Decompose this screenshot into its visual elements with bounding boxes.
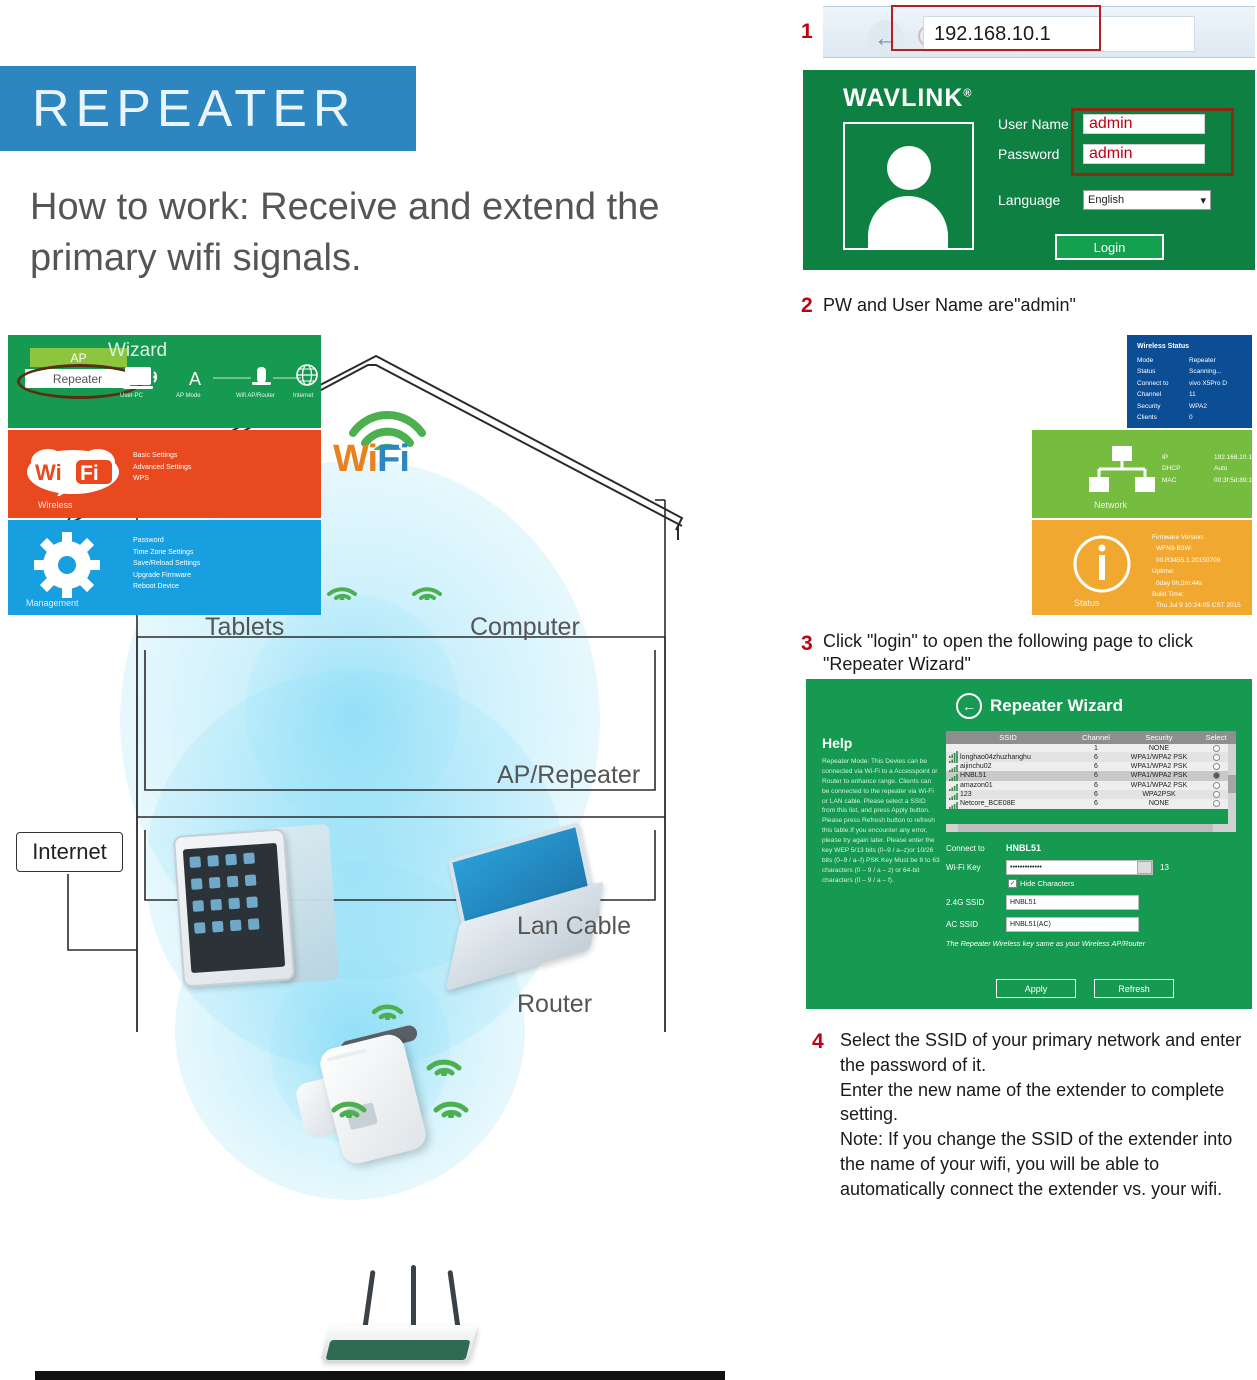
avatar — [843, 122, 974, 250]
signal-bars-icon — [949, 802, 958, 811]
ssid-security: WPA1/WPA2 PSK — [1122, 772, 1196, 779]
ssid-channel: 6 — [1070, 782, 1122, 789]
gear-icon — [34, 532, 100, 598]
network-key-2: MAC — [1162, 475, 1214, 486]
network-tile-label: Network — [1094, 500, 1127, 510]
ap-mode-icon: A — [186, 368, 208, 390]
signal-icon-middle — [370, 988, 406, 1020]
repeater-wizard-page: ← Repeater Wizard Help Repeater Mode: Th… — [803, 676, 1255, 1012]
wireless-menu-items[interactable]: Basic SettingsAdvanced SettingsWPS — [133, 450, 191, 485]
node-label-wifi-ap-router: Wifi AP/Router — [236, 393, 275, 399]
signal-icon-left — [325, 570, 359, 600]
ssid-security: WPA1/WPA2 PSK — [1122, 782, 1196, 789]
wizard-title: Wizard — [108, 340, 167, 362]
wizard-page-title: Repeater Wizard — [990, 696, 1123, 716]
ssid-channel: 6 — [1070, 772, 1122, 779]
wifi-wordmark: WiFi — [333, 438, 409, 481]
ground-line — [35, 1371, 725, 1380]
node-label-ap-mode: AP Mode — [176, 393, 201, 399]
refresh-button[interactable]: Refresh — [1094, 979, 1174, 998]
ssid-name: longhao04zhuzhanghu — [946, 754, 1070, 761]
col-select: Select — [1196, 733, 1236, 742]
wifi-letter-f: F — [377, 438, 399, 480]
label-lan-cable: Lan Cable — [517, 912, 631, 941]
wifi-letter-i: i — [368, 438, 378, 480]
step-3-number: 3 — [801, 632, 813, 656]
step-4-number: 4 — [812, 1030, 824, 1054]
hide-characters-row[interactable]: ✓ Hide Characters — [1008, 879, 1246, 888]
back-arrow-icon[interactable]: ← — [956, 693, 982, 719]
avatar-head-icon — [887, 146, 931, 190]
wifi-cloud-icon: Wi Fi — [26, 446, 121, 496]
wireless-status-key-0: Mode — [1137, 355, 1189, 366]
language-value: English — [1088, 194, 1124, 206]
network-info-rows: IP192.168.10.1DHCPAutoMAC00:3f:5d:89:18:… — [1162, 452, 1257, 486]
tile-wizard[interactable]: AP Repeater Wizard User-PC A AP Mode Wif… — [8, 335, 321, 428]
wireless-status-rows: ModeRepeaterStatusScanning...Connect tov… — [1137, 355, 1227, 423]
login-button[interactable]: Login — [1055, 234, 1164, 260]
language-select[interactable]: English ▾ — [1083, 190, 1211, 210]
url-highlight-box — [891, 5, 1101, 51]
wizard-button-row: Apply Refresh — [996, 979, 1174, 998]
ssid-row[interactable]: HNBL516WPA1/WPA2 PSK — [946, 771, 1236, 780]
wireless-status-key-4: Security — [1137, 401, 1189, 412]
ssid-table-body[interactable]: 1NONElonghao04zhuzhanghu6WPA1/WPA2 PSKai… — [946, 744, 1236, 809]
ssid-24g-label: 2.4G SSID — [946, 898, 1006, 907]
ssid-security: WPA1/WPA2 PSK — [1122, 763, 1196, 770]
status-value-1: 0day 0h:2m:44s — [1152, 578, 1247, 589]
wireless-status-value-0: Repeater — [1189, 355, 1227, 366]
wireless-status-value-4: WPA2 — [1189, 401, 1227, 412]
wireless-menu-item-1[interactable]: Advanced Settings — [133, 462, 191, 474]
wireless-status-value-2: vivo X5Pro D — [1189, 378, 1227, 389]
ssid-channel: 6 — [1070, 754, 1122, 761]
management-tile-label: Management — [26, 598, 79, 608]
svg-text:A: A — [189, 369, 201, 389]
step-4-text: Select the SSID of your primary network … — [840, 1028, 1250, 1202]
ssid-name: 123 — [946, 791, 1070, 798]
tile-network[interactable]: IP192.168.10.1DHCPAutoMAC00:3f:5d:89:18:… — [1032, 430, 1252, 518]
router-antenna-mid — [411, 1265, 416, 1331]
label-router: Router — [517, 990, 592, 1019]
ssid-table-header: SSID Channel Security Select — [946, 731, 1236, 744]
status-value-2: Thu Jul 9 10:24:05 CST 2015 — [1152, 600, 1247, 611]
status-key-1: Uptime: — [1152, 566, 1247, 577]
label-computer: Computer — [470, 613, 580, 642]
hide-characters-label: Hide Characters — [1020, 879, 1074, 888]
ssid-scrollbar-thumb[interactable] — [1228, 775, 1236, 793]
tablet-screen — [183, 843, 285, 973]
ssid-row[interactable]: amazon016WPA1/WPA2 PSK — [946, 781, 1236, 790]
wireless-menu-item-0[interactable]: Basic Settings — [133, 450, 191, 462]
router-front-panel — [326, 1340, 471, 1360]
ssid-name: Netcore_BCE08E — [946, 800, 1070, 807]
router-signal-right — [432, 1082, 472, 1118]
status-value-0: WFN3-B3W-00.R3455.1.20150709 — [1152, 543, 1247, 566]
wizard-page-header: ← Repeater Wizard — [956, 693, 1123, 719]
tile-wireless-status[interactable]: Wireless Status ModeRepeaterStatusScanni… — [1127, 335, 1252, 428]
ssid-ac-label: AC SSID — [946, 920, 1006, 929]
network-value-2: 00:3f:5d:89:18:44 — [1214, 475, 1257, 486]
label-tablets: Tablets — [205, 613, 284, 642]
wavlink-logo: WAVLINK® — [843, 84, 973, 113]
ssid-ac-row: AC SSID HNBL51(AC) — [946, 917, 1246, 932]
wireless-tile-label: Wireless — [38, 500, 73, 510]
wifi-router-icon — [251, 363, 273, 389]
ssid-24g-row: 2.4G SSID HNBL51 — [946, 895, 1246, 910]
management-menu-item-0[interactable]: Password — [133, 535, 200, 547]
repeater-signal-icon — [425, 1040, 465, 1076]
network-tree-icon — [1087, 444, 1157, 496]
wifi-key-input[interactable]: ••••••••••••• — [1006, 860, 1153, 875]
info-icon — [1072, 534, 1132, 594]
ssid-row[interactable]: longhao04zhuzhanghu6WPA1/WPA2 PSK — [946, 752, 1236, 761]
help-title: Help — [822, 735, 852, 751]
ssid-horizontal-thumb[interactable] — [958, 824, 1213, 832]
ssid-channel: 6 — [1070, 791, 1122, 798]
network-key-1: DHCP — [1162, 463, 1214, 474]
wifi-key-label: Wi-Fi Key — [946, 863, 1006, 872]
network-value-0: 192.168.10.1 — [1214, 452, 1257, 463]
wifi-letter-w: W — [333, 438, 368, 480]
internet-label-box: Internet — [16, 832, 123, 872]
status-key-2: Build Time: — [1152, 589, 1247, 600]
tablet-device — [173, 828, 295, 987]
network-value-1: Auto — [1214, 463, 1257, 474]
wireless-menu-item-2[interactable]: WPS — [133, 473, 191, 485]
help-text: Repeater Mode: This Devies can be connec… — [822, 757, 940, 886]
wireless-status-key-5: Clients — [1137, 412, 1189, 423]
step-3-text: Click "login" to open the following page… — [823, 630, 1248, 677]
user-pc-icon — [123, 365, 163, 395]
internet-globe-icon — [296, 363, 320, 387]
step-2-number: 2 — [801, 294, 813, 318]
node-label-internet: Internet — [293, 393, 313, 399]
wavlink-logo-reg: ® — [963, 88, 972, 100]
wavlink-logo-text: WAVLINK — [843, 84, 963, 112]
ssid-row[interactable]: 1NONE — [946, 744, 1236, 752]
how-to-work-text: How to work: Receive and extend the prim… — [30, 182, 770, 285]
tile-status[interactable]: Firmware Version:WFN3-B3W-00.R3455.1.201… — [1032, 520, 1252, 615]
router-signal-left — [330, 1082, 370, 1118]
ssid-channel: 1 — [1070, 745, 1122, 752]
wireless-status-key-1: Status — [1137, 366, 1189, 377]
ssid-security: NONE — [1122, 745, 1196, 752]
language-label: Language — [998, 192, 1083, 208]
wireless-status-value-1: Scanning... — [1189, 366, 1227, 377]
show-password-icon[interactable] — [1137, 861, 1152, 874]
ssid-name: HNBL51 — [946, 772, 1070, 779]
ssid-ac-input[interactable]: HNBL51(AC) — [1006, 917, 1139, 932]
ssid-name: amazon01 — [946, 782, 1070, 789]
management-menu-item-3[interactable]: Upgrade Firmware — [133, 570, 200, 582]
col-ssid: SSID — [946, 733, 1070, 742]
status-info-rows: Firmware Version:WFN3-B3W-00.R3455.1.201… — [1152, 532, 1247, 612]
label-ap-repeater: AP/Repeater — [497, 761, 640, 790]
wireless-status-value-3: 11 — [1189, 389, 1227, 400]
wireless-status-value-5: 0 — [1189, 412, 1227, 423]
wizard-form: Connect to HNBL51 Wi-Fi Key ••••••••••••… — [946, 843, 1246, 948]
status-key-0: Firmware Version: — [1152, 532, 1247, 543]
ssid-24g-input[interactable]: HNBL51 — [1006, 895, 1139, 910]
language-row: Language English ▾ — [998, 190, 1211, 210]
management-menu-item-4[interactable]: Reboot Device — [133, 581, 200, 593]
connect-to-label: Connect to — [946, 844, 1006, 853]
col-channel: Channel — [1070, 733, 1122, 742]
ssid-row[interactable]: Netcore_BCE08E6NONE — [946, 799, 1236, 808]
tile-wireless[interactable]: Wi Fi Basic SettingsAdvanced SettingsWPS… — [8, 430, 321, 518]
wifi-key-length: 13 — [1160, 863, 1169, 872]
repeater-banner-title: REPEATER — [0, 79, 356, 139]
hide-characters-checkbox[interactable]: ✓ — [1008, 879, 1017, 888]
connector-line-1 — [213, 375, 253, 381]
wireless-status-key-3: Channel — [1137, 389, 1189, 400]
wifi-key-row: Wi-Fi Key ••••••••••••• 13 — [946, 860, 1246, 875]
management-menu-item-2[interactable]: Save/Reload Settings — [133, 558, 200, 570]
ssid-security: WPA2PSK — [1122, 791, 1196, 798]
credentials-highlight-box — [1071, 108, 1234, 176]
avatar-body-icon — [868, 196, 948, 248]
ssid-channel: 6 — [1070, 763, 1122, 770]
step-1-number: 1 — [801, 20, 813, 44]
wireless-status-key-2: Connect to — [1137, 378, 1189, 389]
ssid-security: WPA1/WPA2 PSK — [1122, 754, 1196, 761]
svg-text:Fi: Fi — [80, 462, 99, 485]
wizard-form-note: The Repeater Wireless key same as your W… — [946, 939, 1246, 948]
step-2-text: PW and User Name are"admin" — [823, 294, 1243, 317]
ssid-row[interactable]: aijinchu026WPA1/WPA2 PSK — [946, 762, 1236, 771]
ssid-row[interactable]: 1236WPA2PSK — [946, 790, 1236, 799]
col-security: Security — [1122, 733, 1196, 742]
repeater-banner: REPEATER — [0, 66, 416, 151]
chevron-down-icon: ▾ — [1200, 194, 1206, 207]
node-label-user-pc: User-PC — [120, 393, 143, 399]
signal-icon-right — [410, 570, 444, 600]
ssid-table-scrollbar[interactable] — [1228, 744, 1236, 825]
wireless-status-title: Wireless Status — [1137, 343, 1189, 350]
management-menu-item-1[interactable]: Time Zone Settings — [133, 547, 200, 559]
wavlink-login-panel: WAVLINK® User Name admin Password admin … — [803, 70, 1255, 270]
management-menu-items[interactable]: PasswordTime Zone SettingsSave/Reload Se… — [133, 535, 200, 593]
network-key-0: IP — [1162, 452, 1214, 463]
status-tile-label: Status — [1074, 598, 1100, 608]
connect-to-value: HNBL51 — [1006, 843, 1041, 853]
ssid-name: aijinchu02 — [946, 763, 1070, 770]
ssid-table[interactable]: SSID Channel Security Select 1NONElongha… — [946, 731, 1236, 809]
svg-text:Wi: Wi — [35, 460, 62, 485]
apply-button[interactable]: Apply — [996, 979, 1076, 998]
ssid-channel: 6 — [1070, 800, 1122, 807]
wifi-letter-i2: i — [399, 438, 409, 480]
connect-to-row: Connect to HNBL51 — [946, 843, 1246, 853]
ssid-security: NONE — [1122, 800, 1196, 807]
tile-management[interactable]: PasswordTime Zone SettingsSave/Reload Se… — [8, 520, 321, 615]
